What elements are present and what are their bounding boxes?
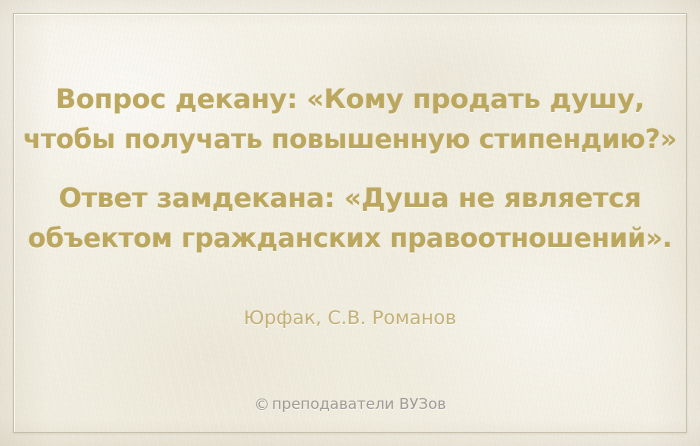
footer-credit-label: преподаватели ВУЗов bbox=[272, 395, 446, 413]
quote-card: Вопрос декану: «Кому продать душу, чтобы… bbox=[0, 0, 700, 446]
answer-line-2: объектом гражданских правоотношений». bbox=[11, 219, 690, 259]
question-line-2: чтобы получать повышенную стипендию?» bbox=[11, 120, 690, 160]
answer-line-1: Ответ замдекана: «Душа не является bbox=[0, 179, 700, 219]
answer-block: Ответ замдекана: «Душа не является объек… bbox=[0, 179, 700, 259]
question-block: Вопрос декану: «Кому продать душу, чтобы… bbox=[0, 80, 700, 160]
attribution-text: Юрфак, С.В. Романов bbox=[244, 305, 457, 331]
card-content: Вопрос декану: «Кому продать душу, чтобы… bbox=[0, 0, 700, 446]
question-line-1: Вопрос декану: «Кому продать душу, bbox=[0, 80, 700, 120]
copyright-icon: © bbox=[254, 395, 270, 414]
footer-credit: ©преподаватели ВУЗов bbox=[0, 393, 700, 416]
